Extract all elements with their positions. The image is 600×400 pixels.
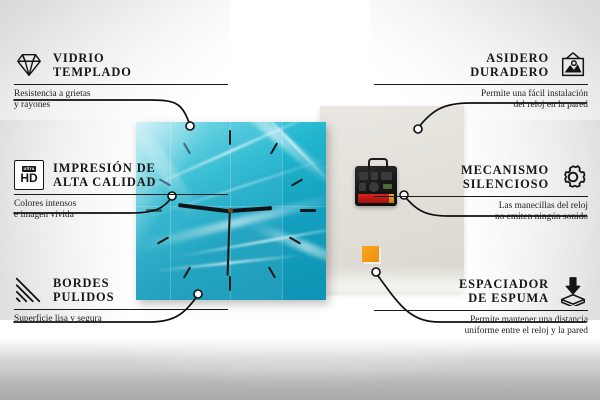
feature-title-line1: ASIDERO bbox=[470, 51, 549, 65]
feature-desc-line1: Permite una fácil instalación bbox=[374, 89, 588, 100]
clock-tick bbox=[300, 209, 316, 212]
feature-desc-line2: y rayones bbox=[14, 100, 228, 111]
foam-spacer bbox=[362, 246, 379, 262]
feature-mecanismo-silencioso: MECANISMO SILENCIOSO Las manecillas del … bbox=[374, 162, 588, 224]
feature-desc-line2: no emiten ningún sonido bbox=[374, 212, 588, 223]
feature-title-line2: SILENCIOSO bbox=[461, 177, 549, 191]
feature-bordes-pulidos: BORDES PULIDOS Superficie lisa y segura bbox=[14, 275, 228, 325]
ultra-hd-badge-icon: ultra HD bbox=[14, 160, 44, 190]
feature-divider bbox=[374, 196, 588, 197]
infographic-canvas: VIDRIO TEMPLADO Resistencia a grietas y … bbox=[0, 0, 600, 400]
feature-desc-line1: Colores intensos bbox=[14, 199, 228, 210]
gear-icon bbox=[558, 162, 588, 192]
feature-desc-line1: Las manecillas del reloj bbox=[374, 201, 588, 212]
feature-divider bbox=[374, 310, 588, 311]
feature-desc-line2: del reloj en la pared bbox=[374, 100, 588, 111]
feature-asidero-duradero: ASIDERO DURADERO Permite una fácil insta… bbox=[374, 50, 588, 112]
feature-vidrio-templado: VIDRIO TEMPLADO Resistencia a grietas y … bbox=[14, 50, 228, 112]
feature-title-line2: DURADERO bbox=[470, 65, 549, 79]
clock-hands-hub bbox=[228, 208, 233, 213]
feature-title-line1: VIDRIO bbox=[53, 51, 132, 65]
feature-divider bbox=[374, 84, 588, 85]
feature-title-line2: TEMPLADO bbox=[53, 65, 132, 79]
arrow-down-layers-icon bbox=[558, 276, 588, 306]
feature-espaciador-de-espuma: ESPACIADOR DE ESPUMA Permite mantener un… bbox=[374, 276, 588, 338]
feature-desc-line1: Permite mantener una distancia bbox=[374, 315, 588, 326]
feature-title-line2: DE ESPUMA bbox=[459, 291, 549, 305]
feature-impresion-alta-calidad: ultra HD IMPRESIÓN DE ALTA CALIDAD Color… bbox=[14, 160, 228, 222]
diamond-icon bbox=[14, 50, 44, 80]
feature-title-line1: BORDES bbox=[53, 276, 114, 290]
feature-divider bbox=[14, 309, 228, 310]
picture-frame-hanger-icon bbox=[558, 50, 588, 80]
feature-divider bbox=[14, 84, 228, 85]
feature-title-line1: MECANISMO bbox=[461, 163, 549, 177]
badge-hd-label: HD bbox=[20, 172, 37, 184]
feature-desc-line2: e imagen vívida bbox=[14, 210, 228, 221]
feature-title-line2: ALTA CALIDAD bbox=[53, 175, 156, 189]
feature-divider bbox=[14, 194, 228, 195]
feature-desc-line1: Resistencia a grietas bbox=[14, 89, 228, 100]
feature-title-line2: PULIDOS bbox=[53, 290, 114, 304]
feature-desc-line1: Superficie lisa y segura bbox=[14, 314, 228, 325]
feature-desc-line2: uniforme entre el reloj y la pared bbox=[374, 326, 588, 337]
feature-title-line1: ESPACIADOR bbox=[459, 277, 549, 291]
clock-tick bbox=[229, 276, 231, 291]
feature-title-line1: IMPRESIÓN DE bbox=[53, 161, 156, 175]
diagonal-lines-icon bbox=[14, 275, 44, 305]
clock-tick bbox=[229, 130, 231, 145]
